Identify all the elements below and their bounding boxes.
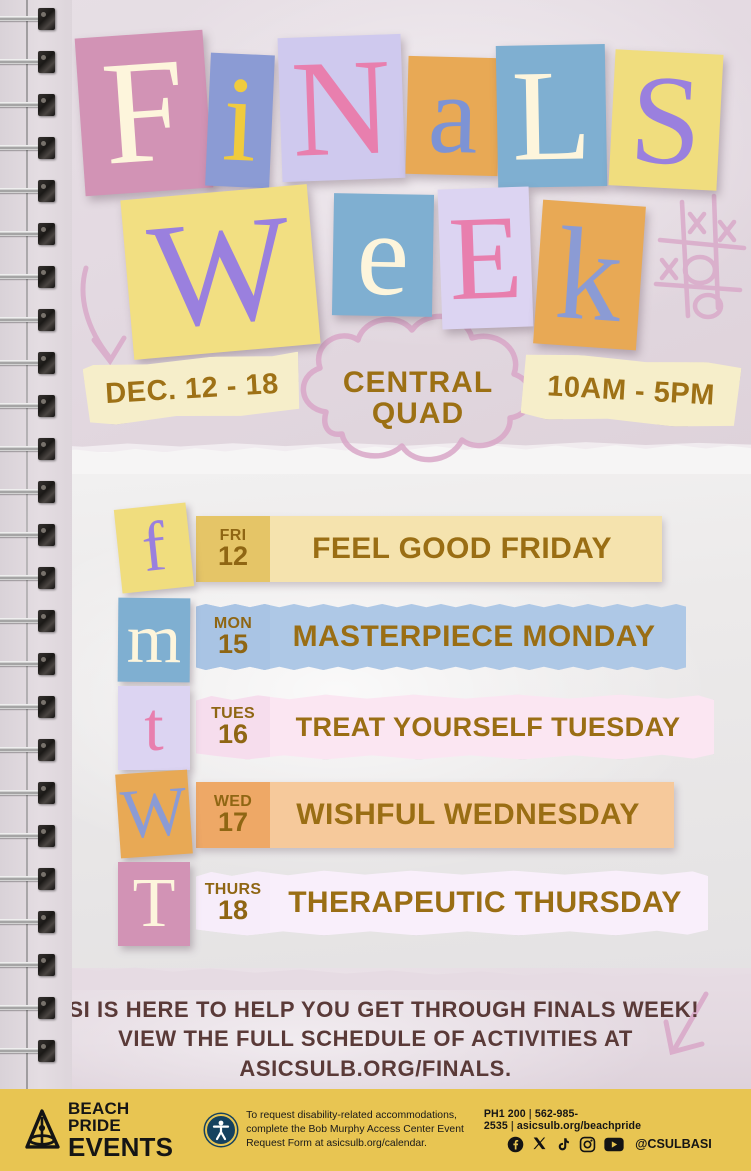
date-chip: FRI12 <box>196 516 270 582</box>
binding-coil <box>0 184 64 198</box>
title-tile-a: a <box>405 56 500 176</box>
binding-coil <box>0 1001 64 1015</box>
binding-coil <box>0 743 64 757</box>
times-banner: 10AM - 5PM <box>520 352 741 430</box>
day-letter-tile: W <box>115 770 193 859</box>
schedule-row: THURS18THERAPEUTIC THURSDAYT <box>0 860 751 944</box>
instagram-icon[interactable] <box>579 1136 596 1153</box>
schedule-row: WED17WISHFUL WEDNESDAYW <box>0 772 751 856</box>
binding-coil <box>0 313 64 327</box>
beach-pride-events-logo: BEACH PRIDE EVENTS <box>22 1100 187 1161</box>
spiral-binding <box>0 0 72 1089</box>
accessibility-text: To request disability-related accommodat… <box>246 1109 484 1150</box>
schedule-bar[interactable]: WED17WISHFUL WEDNESDAY <box>196 782 674 848</box>
x-twitter-icon[interactable] <box>532 1136 548 1152</box>
binding-coil <box>0 270 64 284</box>
logo-line-1: BEACH PRIDE <box>68 1100 187 1134</box>
location-line-2: QUAD <box>372 398 464 429</box>
facebook-icon[interactable] <box>507 1136 524 1153</box>
youtube-icon[interactable] <box>604 1137 624 1152</box>
title-tile-W: W <box>120 184 320 360</box>
binding-coil <box>0 55 64 69</box>
day-letter-tile: m <box>118 598 191 683</box>
schedule-bar[interactable]: MON15MASTERPIECE MONDAY <box>196 604 686 670</box>
beach-pride-sail-icon <box>22 1109 62 1151</box>
binding-coil <box>0 915 64 929</box>
binding-coil <box>0 958 64 972</box>
date-chip: THURS18 <box>196 870 270 936</box>
location-label: CENTRAL QUAD <box>330 356 506 440</box>
binding-coil <box>0 872 64 886</box>
call-to-action: ASI IS HERE TO HELP YOU GET THROUGH FINA… <box>0 1004 751 1074</box>
schedule-bar[interactable]: FRI12FEEL GOOD FRIDAY <box>196 516 662 582</box>
binding-coil <box>0 399 64 413</box>
cta-line-1: ASI IS HERE TO HELP YOU GET THROUGH FINA… <box>52 995 699 1024</box>
day-number: 12 <box>218 543 248 570</box>
title-tile-L: L <box>496 44 607 188</box>
title-tile-F: F <box>75 30 214 197</box>
binding-coil <box>0 485 64 499</box>
event-title: TREAT YOURSELF TUESDAY <box>270 694 714 760</box>
event-title: MASTERPIECE MONDAY <box>270 604 686 670</box>
day-letter-tile: f <box>114 502 194 593</box>
binding-coil <box>0 700 64 714</box>
day-number: 18 <box>218 897 248 924</box>
date-chip: MON15 <box>196 604 270 670</box>
title-tile-k: k <box>533 200 646 351</box>
title-tile-e: e <box>332 193 434 317</box>
day-number: 17 <box>218 809 248 836</box>
schedule-list: FRI12FEEL GOOD FRIDAYfMON15MASTERPIECE M… <box>0 498 751 948</box>
binding-coil <box>0 571 64 585</box>
schedule-row: FRI12FEEL GOOD FRIDAYf <box>0 506 751 590</box>
social-handle: @CSULBASI <box>635 1137 712 1151</box>
binding-coil <box>0 829 64 843</box>
schedule-bar[interactable]: THURS18THERAPEUTIC THURSDAY <box>196 870 708 936</box>
binding-coil <box>0 141 64 155</box>
binding-coil <box>0 528 64 542</box>
binding-coil <box>0 98 64 112</box>
title-tile-E: E <box>438 186 534 329</box>
day-letter-tile: T <box>118 862 190 946</box>
date-chip: WED17 <box>196 782 270 848</box>
tiktok-icon[interactable] <box>556 1136 571 1153</box>
day-letter-tile: t <box>118 686 190 770</box>
schedule-row: TUES16TREAT YOURSELF TUESDAYt <box>0 684 751 768</box>
binding-coil <box>0 356 64 370</box>
finals-week-poster: F i N a L S W e E k DEC. 12 - 18 CENTRAL… <box>0 0 751 1171</box>
footer-bar: BEACH PRIDE EVENTS To request disability… <box>0 1089 751 1171</box>
schedule-row: MON15MASTERPIECE MONDAYm <box>0 594 751 678</box>
binding-coil <box>0 786 64 800</box>
binding-coil <box>0 657 64 671</box>
contact-room: PH1 200 <box>484 1108 526 1120</box>
event-title: WISHFUL WEDNESDAY <box>270 782 674 848</box>
day-number: 16 <box>218 721 248 748</box>
social-media-row: @CSULBASI <box>507 1136 712 1153</box>
date-chip: TUES16 <box>196 694 270 760</box>
binding-coil <box>0 1044 64 1058</box>
binding-coil <box>0 614 64 628</box>
binding-coil <box>0 227 64 241</box>
event-title: FEEL GOOD FRIDAY <box>270 516 662 582</box>
binding-coil <box>0 12 64 26</box>
accessibility-icon <box>205 1114 237 1146</box>
schedule-bar[interactable]: TUES16TREAT YOURSELF TUESDAY <box>196 694 714 760</box>
contact-url[interactable]: asicsulb.org/beachpride <box>517 1120 641 1132</box>
day-number: 15 <box>218 631 248 658</box>
event-title: THERAPEUTIC THURSDAY <box>270 870 708 936</box>
cta-line-2: VIEW THE FULL SCHEDULE OF ACTIVITIES AT … <box>0 1024 751 1082</box>
binding-coil <box>0 442 64 456</box>
title-tile-N: N <box>278 34 406 182</box>
logo-line-2: EVENTS <box>68 1134 187 1161</box>
title-tile-i: i <box>205 53 275 189</box>
footer-contact: PH1 200|562-985-2535|asicsulb.org/beachp… <box>484 1108 735 1153</box>
footer-contact-line: PH1 200|562-985-2535|asicsulb.org/beachp… <box>484 1108 735 1132</box>
title-tile-S: S <box>609 49 724 190</box>
location-line-1: CENTRAL <box>343 367 493 398</box>
